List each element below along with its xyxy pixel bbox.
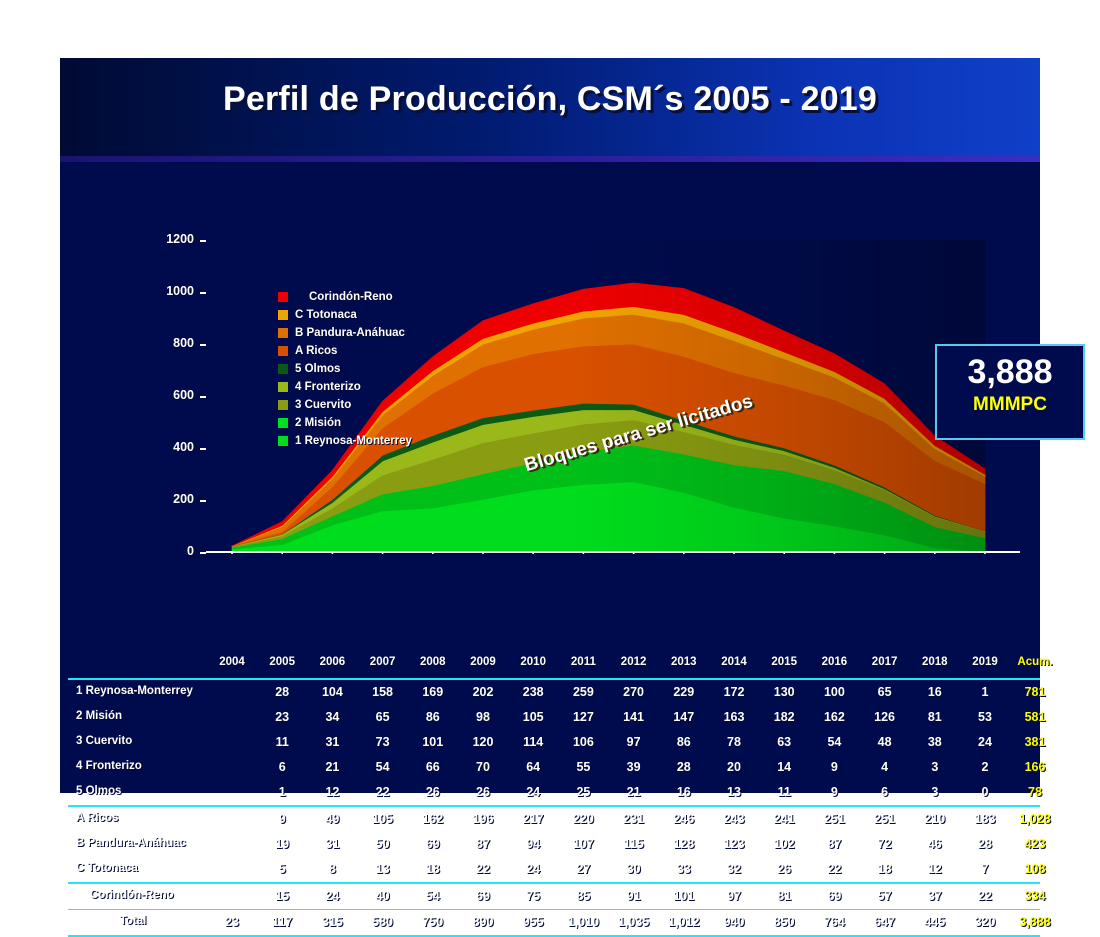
y-tick-label: 1200	[142, 232, 194, 246]
table-cell: 55	[557, 760, 609, 774]
y-tick-label: 0	[142, 544, 194, 558]
table-cell: 220	[557, 812, 609, 826]
table-row-label: C Totonaca	[76, 862, 138, 874]
table-cell: 764	[808, 915, 860, 929]
table-cell: 18	[407, 862, 459, 876]
legend-swatch-icon	[278, 400, 288, 410]
page-title: Perfil de Producción, CSM´s 2005 - 2019	[60, 80, 1040, 119]
table-cell: 49	[306, 812, 358, 826]
legend-item-label: Corindón-Reno	[309, 291, 393, 303]
table-cell: 98	[457, 710, 509, 724]
table-cell: 86	[658, 735, 710, 749]
table-cell: 445	[909, 915, 961, 929]
table-cell: 12	[306, 785, 358, 799]
table-cell: 243	[708, 812, 760, 826]
table-cell: 54	[407, 889, 459, 903]
table-cell: 13	[357, 862, 409, 876]
x-axis-year-label: 2009	[457, 656, 509, 668]
x-axis-year-label: 2016	[808, 656, 860, 668]
x-axis-year-label: 2013	[658, 656, 710, 668]
table-cell: 850	[758, 915, 810, 929]
legend-item-label: 5 Olmos	[295, 363, 340, 375]
legend-swatch-icon	[278, 310, 288, 320]
table-cell: 86	[407, 710, 459, 724]
legend-item-label: 3 Cuervito	[295, 399, 351, 411]
legend-item-label: C Totonaca	[295, 309, 357, 321]
table-cell: 162	[407, 812, 459, 826]
table-cell: 81	[909, 710, 961, 724]
table-cell: 21	[306, 760, 358, 774]
table-row-label: B Pandura-Anáhuac	[76, 837, 186, 849]
table-cell: 22	[808, 862, 860, 876]
x-axis-year-label: 2007	[357, 656, 409, 668]
table-cell: 28	[959, 837, 1011, 851]
table-row: 4 Fronterizo6215466706455392820149432166	[68, 755, 1040, 780]
table-cell-acum: 334	[1009, 889, 1061, 903]
table-cell: 1,035	[608, 915, 660, 929]
x-axis-year-label: 2005	[256, 656, 308, 668]
legend-item: 3 Cuervito	[278, 396, 412, 414]
table-cell: 31	[306, 735, 358, 749]
table-row: C Totonaca581318222427303332262218127108	[68, 857, 1040, 882]
chart-legend: Corindón-RenoC TotonacaB Pandura-Anáhuac…	[278, 288, 412, 450]
callout-unit: MMMPC	[937, 393, 1083, 417]
table-row-label: 2 Misión	[76, 710, 122, 722]
callout-value: 3,888	[937, 351, 1083, 393]
table-cell-acum: 381	[1009, 735, 1061, 749]
table-cell: 11	[256, 735, 308, 749]
table-cell: 1	[959, 685, 1011, 699]
table-cell: 7	[959, 862, 1011, 876]
x-axis-year-label: 2012	[608, 656, 660, 668]
table-cell: 955	[507, 915, 559, 929]
table-cell: 229	[658, 685, 710, 699]
legend-swatch-icon	[278, 418, 288, 428]
table-cell: 115	[608, 837, 660, 851]
table-cell: 54	[808, 735, 860, 749]
table-cell: 63	[758, 735, 810, 749]
y-tick-label: 200	[142, 492, 194, 506]
x-axis-year-label: 2008	[407, 656, 459, 668]
table-cell: 15	[256, 889, 308, 903]
table-cell: 50	[357, 837, 409, 851]
legend-item-label: B Pandura-Anáhuac	[295, 327, 405, 339]
table-cell: 104	[306, 685, 358, 699]
table-cell: 78	[708, 735, 760, 749]
table-cell: 126	[859, 710, 911, 724]
table-cell: 238	[507, 685, 559, 699]
table-cell: 158	[357, 685, 409, 699]
x-axis-year-label: 2010	[507, 656, 559, 668]
legend-item-label: 2 Misión	[295, 417, 341, 429]
legend-item-label: A Ricos	[295, 345, 337, 357]
table-row-label: 4 Fronterizo	[76, 760, 142, 772]
table-cell: 8	[306, 862, 358, 876]
table-cell: 9	[256, 812, 308, 826]
table-cell: 6	[859, 785, 911, 799]
table-cell-acum: 78	[1009, 785, 1061, 799]
table-cell: 46	[909, 837, 961, 851]
table-cell: 12	[909, 862, 961, 876]
table-cell: 127	[557, 710, 609, 724]
table-cell: 217	[507, 812, 559, 826]
table-cell: 30	[608, 862, 660, 876]
table-cell: 9	[808, 785, 860, 799]
x-axis-year-labels: 2004200520062007200820092010201120122013…	[60, 656, 1040, 676]
legend-swatch-icon	[278, 364, 288, 374]
x-axis-year-label: 2004	[206, 656, 258, 668]
table-cell: 241	[758, 812, 810, 826]
table-row: 2 Misión23346586981051271411471631821621…	[68, 705, 1040, 730]
table-cell: 69	[407, 837, 459, 851]
table-cell: 647	[859, 915, 911, 929]
table-row: A Ricos949105162196217220231246243241251…	[68, 807, 1040, 832]
table-row: 1 Reynosa-Monterrey281041581692022382592…	[68, 680, 1040, 705]
table-cell: 23	[256, 710, 308, 724]
legend-item: C Totonaca	[278, 306, 412, 324]
total-callout-box: 3,888 MMMPC	[935, 344, 1085, 440]
table-row: B Pandura-Anáhuac19315069879410711512812…	[68, 832, 1040, 857]
legend-swatch-icon	[278, 382, 288, 392]
table-cell: 24	[306, 889, 358, 903]
table-cell-acum: 581	[1009, 710, 1061, 724]
table-cell: 6	[256, 760, 308, 774]
data-table: 1 Reynosa-Monterrey281041581692022382592…	[68, 678, 1040, 937]
x-axis-year-label: 2018	[909, 656, 961, 668]
table-cell: 37	[909, 889, 961, 903]
table-cell: 5	[256, 862, 308, 876]
table-row: 5 Olmos112222626242521161311963078	[68, 780, 1040, 805]
table-cell: 26	[758, 862, 810, 876]
x-axis-year-label: 2014	[708, 656, 760, 668]
y-tick-label: 1000	[142, 284, 194, 298]
table-cell: 9	[808, 760, 860, 774]
table-cell: 26	[407, 785, 459, 799]
table-cell: 3	[909, 785, 961, 799]
table-cell: 75	[507, 889, 559, 903]
table-cell: 169	[407, 685, 459, 699]
table-cell: 101	[658, 889, 710, 903]
table-cell: 85	[557, 889, 609, 903]
table-cell: 106	[557, 735, 609, 749]
y-tick-label: 800	[142, 336, 194, 350]
table-cell: 580	[357, 915, 409, 929]
table-cell: 65	[357, 710, 409, 724]
table-cell: 66	[407, 760, 459, 774]
x-axis-acum-label: Acum.	[1009, 656, 1061, 668]
table-cell: 202	[457, 685, 509, 699]
table-cell-acum: 3,888	[1009, 915, 1061, 929]
table-cell: 48	[859, 735, 911, 749]
table-cell: 251	[808, 812, 860, 826]
table-cell: 40	[357, 889, 409, 903]
table-cell: 22	[457, 862, 509, 876]
table-cell: 3	[909, 760, 961, 774]
legend-item: 4 Fronterizo	[278, 378, 412, 396]
legend-item: B Pandura-Anáhuac	[278, 324, 412, 342]
table-cell: 0	[959, 785, 1011, 799]
table-cell: 91	[608, 889, 660, 903]
table-cell: 22	[959, 889, 1011, 903]
table-cell: 28	[256, 685, 308, 699]
x-axis-year-label: 2006	[306, 656, 358, 668]
table-cell: 1,010	[557, 915, 609, 929]
table-cell: 1	[256, 785, 308, 799]
table-cell: 24	[507, 785, 559, 799]
table-cell: 231	[608, 812, 660, 826]
table-cell: 123	[708, 837, 760, 851]
legend-item-label: 1 Reynosa-Monterrey	[295, 435, 412, 447]
table-cell-acum: 1,028	[1009, 812, 1061, 826]
table-cell: 182	[758, 710, 810, 724]
table-cell: 4	[859, 760, 911, 774]
table-cell: 54	[357, 760, 409, 774]
table-cell: 32	[708, 862, 760, 876]
table-cell: 23	[206, 915, 258, 929]
table-cell: 39	[608, 760, 660, 774]
table-cell: 128	[658, 837, 710, 851]
table-cell: 101	[407, 735, 459, 749]
table-cell: 81	[758, 889, 810, 903]
table-cell: 102	[758, 837, 810, 851]
table-cell: 20	[708, 760, 760, 774]
y-tick-label: 600	[142, 388, 194, 402]
legend-item: 5 Olmos	[278, 360, 412, 378]
table-cell: 22	[357, 785, 409, 799]
table-cell: 97	[708, 889, 760, 903]
table-cell: 105	[357, 812, 409, 826]
x-axis-year-label: 2015	[758, 656, 810, 668]
table-cell: 25	[557, 785, 609, 799]
y-tick-label: 400	[142, 440, 194, 454]
table-row-label: A Ricos	[76, 812, 118, 824]
table-cell: 24	[959, 735, 1011, 749]
table-cell: 100	[808, 685, 860, 699]
table-cell: 11	[758, 785, 810, 799]
table-row: Corindón-Reno152440546975859110197816957…	[68, 884, 1040, 909]
table-cell: 26	[457, 785, 509, 799]
table-cell: 31	[306, 837, 358, 851]
table-cell: 2	[959, 760, 1011, 774]
table-cell: 750	[407, 915, 459, 929]
table-cell: 69	[808, 889, 860, 903]
table-cell: 94	[507, 837, 559, 851]
table-cell: 64	[507, 760, 559, 774]
table-row-label: Corindón-Reno	[90, 889, 174, 901]
table-cell: 117	[256, 915, 308, 929]
table-cell: 38	[909, 735, 961, 749]
table-row: Total231173155807508909551,0101,0351,012…	[68, 910, 1040, 935]
table-cell: 16	[658, 785, 710, 799]
legend-swatch-icon	[278, 346, 288, 356]
table-cell: 13	[708, 785, 760, 799]
table-cell: 18	[859, 862, 911, 876]
chart-area: 120010008006004002000 Corindón-RenoC Tot…	[60, 162, 1040, 793]
table-cell: 246	[658, 812, 710, 826]
legend-item: A Ricos	[278, 342, 412, 360]
table-cell: 141	[608, 710, 660, 724]
table-cell: 183	[959, 812, 1011, 826]
table-cell: 251	[859, 812, 911, 826]
table-cell: 162	[808, 710, 860, 724]
legend-swatch-icon	[278, 436, 288, 446]
table-cell: 210	[909, 812, 961, 826]
legend-item-label: 4 Fronterizo	[295, 381, 361, 393]
slide-canvas: Perfil de Producción, CSM´s 2005 - 2019 …	[60, 58, 1040, 793]
table-cell: 147	[658, 710, 710, 724]
legend-item: Corindón-Reno	[278, 288, 412, 306]
table-cell: 87	[808, 837, 860, 851]
table-cell: 53	[959, 710, 1011, 724]
x-axis-year-label: 2017	[859, 656, 911, 668]
table-cell: 70	[457, 760, 509, 774]
table-row-label: 3 Cuervito	[76, 735, 132, 747]
table-cell: 320	[959, 915, 1011, 929]
table-cell: 21	[608, 785, 660, 799]
table-cell: 16	[909, 685, 961, 699]
table-cell: 270	[608, 685, 660, 699]
table-cell: 69	[457, 889, 509, 903]
table-row-label: 1 Reynosa-Monterrey	[76, 685, 193, 697]
table-cell: 172	[708, 685, 760, 699]
table-cell-acum: 781	[1009, 685, 1061, 699]
table-cell: 27	[557, 862, 609, 876]
table-cell: 259	[557, 685, 609, 699]
table-cell: 890	[457, 915, 509, 929]
table-cell: 97	[608, 735, 660, 749]
table-cell: 19	[256, 837, 308, 851]
table-row-label: 5 Olmos	[76, 785, 121, 797]
table-cell: 940	[708, 915, 760, 929]
table-cell-acum: 166	[1009, 760, 1061, 774]
table-cell: 1,012	[658, 915, 710, 929]
table-cell-acum: 108	[1009, 862, 1061, 876]
table-row: 3 Cuervito113173101120114106978678635448…	[68, 730, 1040, 755]
table-cell: 114	[507, 735, 559, 749]
legend-swatch-icon	[278, 292, 288, 302]
table-cell: 107	[557, 837, 609, 851]
table-cell: 34	[306, 710, 358, 724]
table-cell: 196	[457, 812, 509, 826]
table-cell: 130	[758, 685, 810, 699]
table-cell: 87	[457, 837, 509, 851]
legend-swatch-icon	[278, 328, 288, 338]
table-cell: 73	[357, 735, 409, 749]
x-axis-year-label: 2019	[959, 656, 1011, 668]
table-cell: 163	[708, 710, 760, 724]
table-cell: 24	[507, 862, 559, 876]
legend-item: 1 Reynosa-Monterrey	[278, 432, 412, 450]
table-cell: 65	[859, 685, 911, 699]
table-cell: 57	[859, 889, 911, 903]
table-cell: 120	[457, 735, 509, 749]
x-axis-year-label: 2011	[557, 656, 609, 668]
table-cell: 14	[758, 760, 810, 774]
table-cell: 105	[507, 710, 559, 724]
table-cell: 72	[859, 837, 911, 851]
legend-item: 2 Misión	[278, 414, 412, 432]
table-cell: 28	[658, 760, 710, 774]
table-row-label: Total	[68, 915, 198, 927]
table-cell-acum: 423	[1009, 837, 1061, 851]
table-cell: 33	[658, 862, 710, 876]
table-cell: 315	[306, 915, 358, 929]
